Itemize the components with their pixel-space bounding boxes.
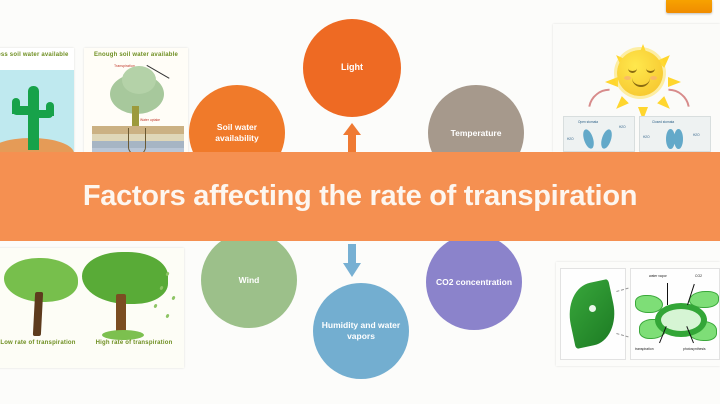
falling-leaf-icon [165, 272, 169, 277]
stomata-open-label: Open stomata [578, 120, 598, 124]
leaf-stoma-pore [589, 305, 596, 312]
cactus-arm-right-up [46, 102, 54, 116]
image-card-transpiration-trees: Low rate of transpiration High rate of t… [0, 248, 184, 368]
image-card-leaf-gas-exchange: water vapor CO2 transpiration photosynth… [556, 262, 720, 366]
tree-high-rate [80, 252, 172, 338]
sun-cheek-right [650, 76, 657, 80]
falling-leaf-icon [165, 314, 169, 319]
arrow-down-head [343, 263, 361, 277]
falling-leaf-icon [153, 304, 157, 309]
falling-leaf-icon [171, 296, 175, 301]
leaf-overview-panel [560, 268, 626, 360]
cactus-caption: Less soil water available [0, 52, 74, 58]
bubble-light[interactable]: Light [303, 19, 401, 117]
tree-canopy-top [122, 66, 156, 94]
label-water-vapor: water vapor [649, 274, 667, 278]
soil-card-sub-label-mid: Water uptake [140, 118, 160, 122]
image-card-soil-water: Enough soil water available Transpiratio… [84, 48, 188, 160]
cactus-body [28, 86, 39, 150]
tree-low-caption: Low rate of transpiration [0, 340, 84, 346]
label-transpiration: transpiration [635, 347, 654, 351]
bubble-humidity-water-vapors[interactable]: Humidity and water vapors [313, 283, 409, 379]
amber-tab[interactable] [666, 0, 712, 13]
tree-high-caption: High rate of transpiration [84, 340, 184, 346]
sun-ray-icon [668, 77, 681, 87]
sun-icon [617, 50, 663, 96]
tree-low-rate [2, 256, 80, 336]
stomata-closed-diagram: Closed stomata H2O H2O [639, 116, 711, 152]
guard-cell [674, 129, 683, 149]
image-card-cactus: Less soil water available [0, 48, 74, 160]
stomata-open-diagram: Open stomata H2O H2O [563, 116, 635, 152]
gas-label: H2O [567, 137, 574, 141]
page-title: Factors affecting the rate of transpirat… [0, 152, 720, 241]
leaf-icon [563, 279, 621, 349]
gas-label: H2O [619, 125, 626, 129]
arrow-down-icon [343, 244, 361, 278]
label-co2: CO2 [695, 274, 702, 278]
arrow-up-shaft [348, 133, 356, 153]
sun-ray-icon [605, 77, 618, 87]
tree-roots [128, 128, 146, 155]
arrow-down-shaft [348, 244, 356, 264]
gas-label: H2O [643, 135, 650, 139]
tree-high-grass [102, 330, 144, 340]
tree-low-trunk [33, 292, 43, 336]
image-card-sun-stomata: Open stomata H2O H2O Closed stomata H2O … [553, 24, 720, 152]
guard-cell [599, 128, 614, 150]
bubble-co2-concentration[interactable]: CO2 concentration [426, 234, 522, 330]
soil-card-caption: Enough soil water available [84, 52, 188, 58]
label-photosynthesis: photosynthesis [683, 347, 706, 351]
bubble-wind[interactable]: Wind [201, 232, 297, 328]
arrow-up-icon [343, 123, 361, 153]
slide-canvas: Less soil water available Enough soil wa… [0, 0, 720, 404]
guard-cell [581, 128, 596, 150]
stoma-closeup-panel: water vapor CO2 transpiration photosynth… [630, 268, 720, 360]
cactus-arm-left-up [12, 98, 20, 114]
gas-label: H2O [693, 133, 700, 137]
title-banner: Factors affecting the rate of transpirat… [0, 152, 720, 241]
sun-cheek-left [624, 76, 631, 80]
arrow-water-vapor [667, 283, 668, 305]
stomata-closed-label: Closed stomata [652, 120, 674, 124]
